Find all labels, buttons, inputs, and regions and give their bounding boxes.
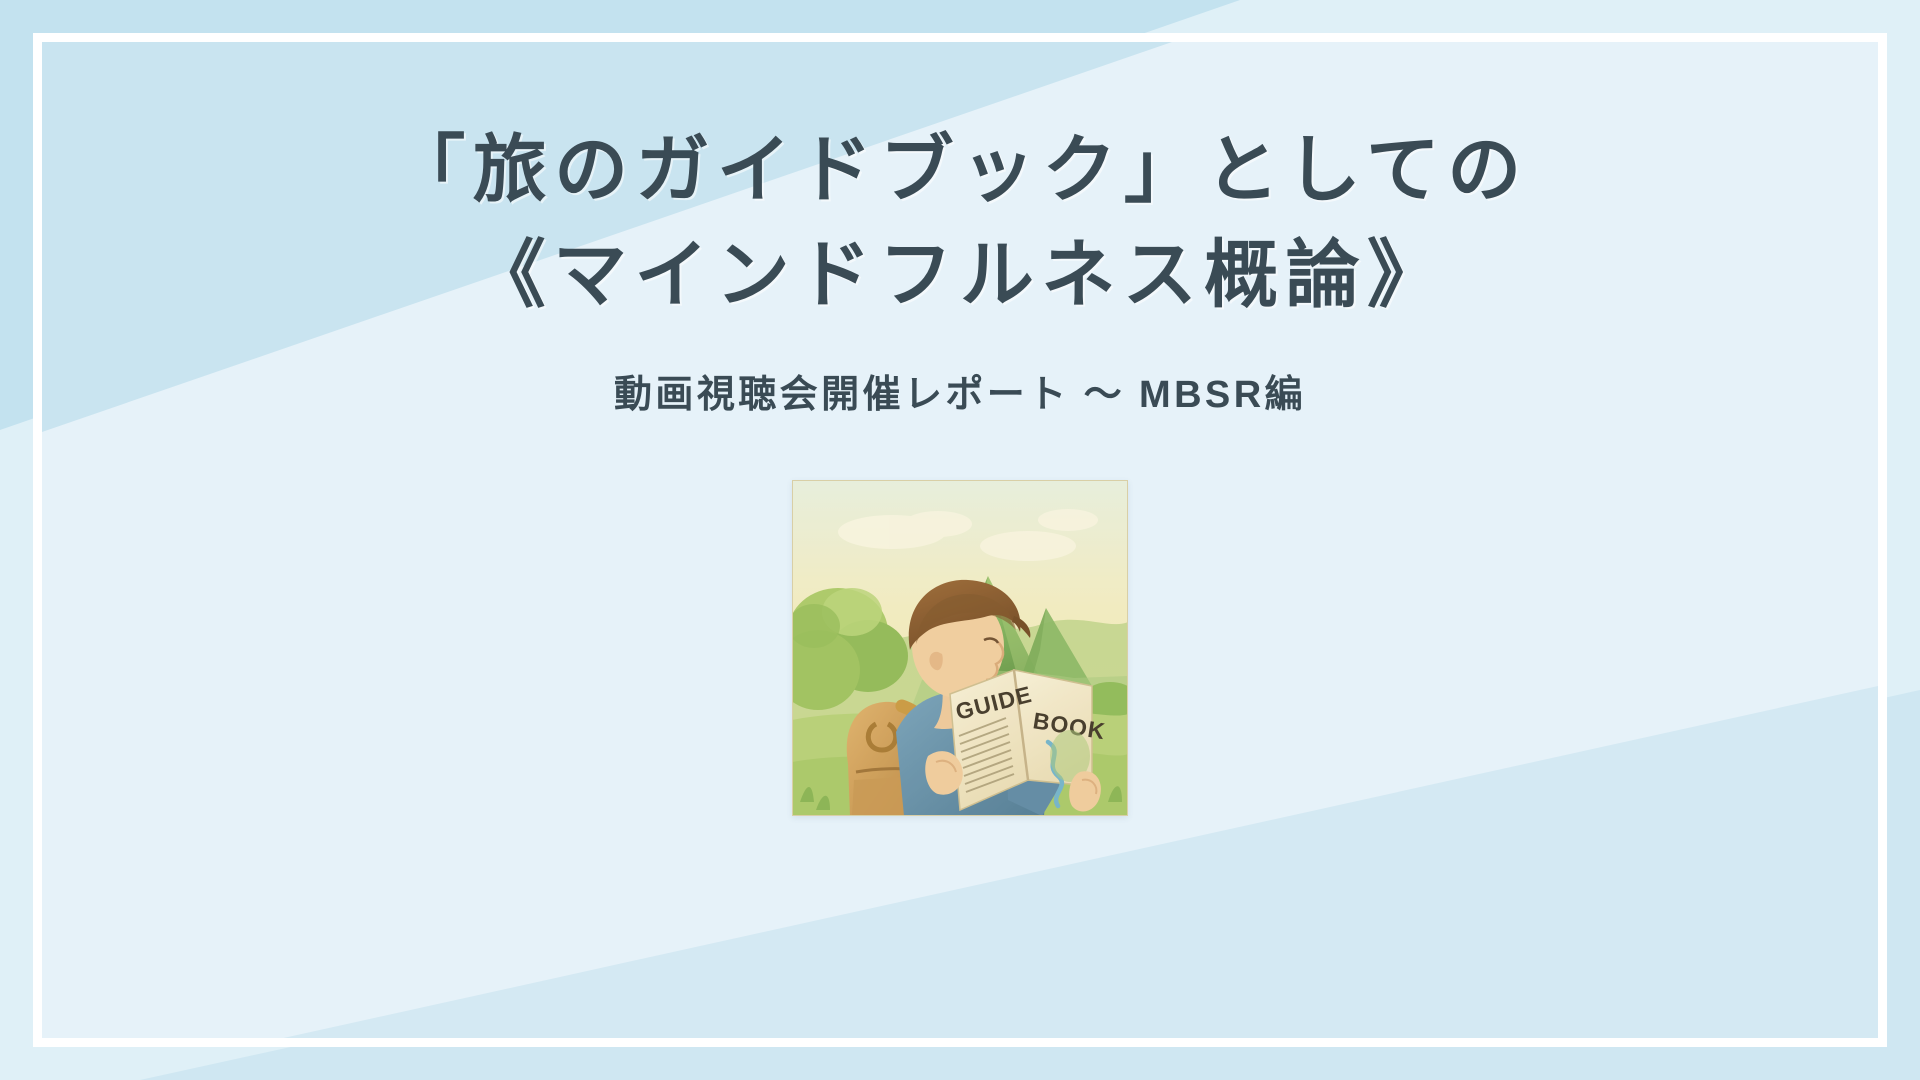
title-line-1: 「旅のガイドブック」としての [391,117,1528,222]
page-subtitle: 動画視聴会開催レポート 〜 MBSR編 [614,363,1306,418]
title-line-2: 《マインドフルネス概論》 [391,222,1528,327]
hiker-reading-guidebook-icon: GUIDE BOOK [792,480,1128,816]
illustration-container: GUIDE BOOK [792,480,1128,816]
inner-card: 「旅のガイドブック」としての 《マインドフルネス概論》 動画視聴会開催レポート … [42,42,1878,1038]
poster-canvas: 「旅のガイドブック」としての 《マインドフルネス概論》 動画視聴会開催レポート … [0,0,1920,1080]
poster-content: 「旅のガイドブック」としての 《マインドフルネス概論》 動画視聴会開催レポート … [42,42,1878,1038]
white-frame-border: 「旅のガイドブック」としての 《マインドフルネス概論》 動画視聴会開催レポート … [33,33,1887,1047]
page-title: 「旅のガイドブック」としての 《マインドフルネス概論》 [391,117,1528,327]
